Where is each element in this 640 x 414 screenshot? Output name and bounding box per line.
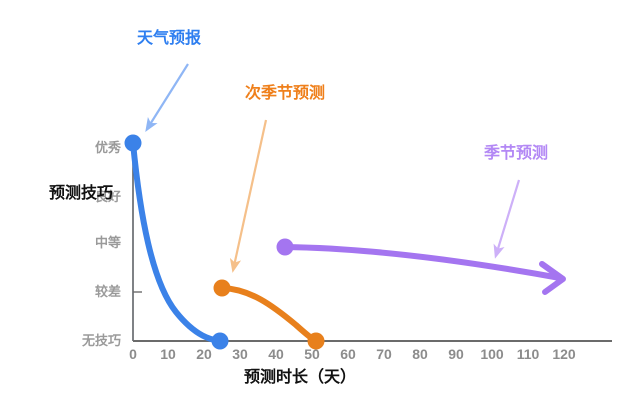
- x-tick-label-90: 90: [441, 347, 471, 361]
- x-tick-label-0: 0: [118, 347, 148, 361]
- series-seasonal-forecast: [277, 239, 564, 293]
- series-label-weather-forecast: 天气预报: [137, 31, 201, 47]
- x-tick-label-70: 70: [369, 347, 399, 361]
- x-tick-label-80: 80: [405, 347, 435, 361]
- y-tick-label-no-skill: 无技巧: [58, 334, 121, 347]
- weather-annotation-arrow: [149, 64, 188, 126]
- subseasonal-start-marker: [214, 280, 231, 297]
- x-axis-title: 预测时长（天）: [244, 370, 356, 386]
- x-tick-label-10: 10: [153, 347, 183, 361]
- x-tick-label-100: 100: [473, 347, 511, 361]
- y-tick-label-poor: 较差: [66, 285, 121, 298]
- series-subseasonal-forecast: [214, 280, 325, 350]
- forecast-skill-chart: 优秀 良好 中等 较差 无技巧 预测技巧 0 10 20 30 40 50 60…: [0, 0, 640, 414]
- x-tick-label-110: 110: [509, 347, 547, 361]
- series-label-subseasonal-forecast: 次季节预测: [245, 86, 325, 102]
- series-weather-forecast: [125, 135, 229, 350]
- series-label-seasonal-forecast: 季节预测: [484, 146, 548, 162]
- y-tick-label-excellent: 优秀: [66, 141, 121, 154]
- y-axis-title: 预测技巧: [49, 186, 71, 203]
- x-tick-label-40: 40: [261, 347, 291, 361]
- subseasonal-forecast-line: [222, 288, 316, 341]
- x-tick-label-30: 30: [225, 347, 255, 361]
- seasonal-forecast-line: [285, 247, 560, 278]
- x-tick-label-120: 120: [545, 347, 583, 361]
- weather-forecast-start-marker: [125, 135, 142, 152]
- seasonal-annotation-arrow: [497, 180, 519, 252]
- x-tick-label-60: 60: [333, 347, 363, 361]
- x-tick-label-50: 50: [297, 347, 327, 361]
- axis-lines: [133, 143, 612, 341]
- x-tick-label-20: 20: [189, 347, 219, 361]
- weather-forecast-line: [133, 143, 220, 341]
- subseasonal-annotation-arrow: [234, 120, 266, 266]
- y-tick-label-medium: 中等: [66, 236, 121, 249]
- seasonal-start-marker: [277, 239, 294, 256]
